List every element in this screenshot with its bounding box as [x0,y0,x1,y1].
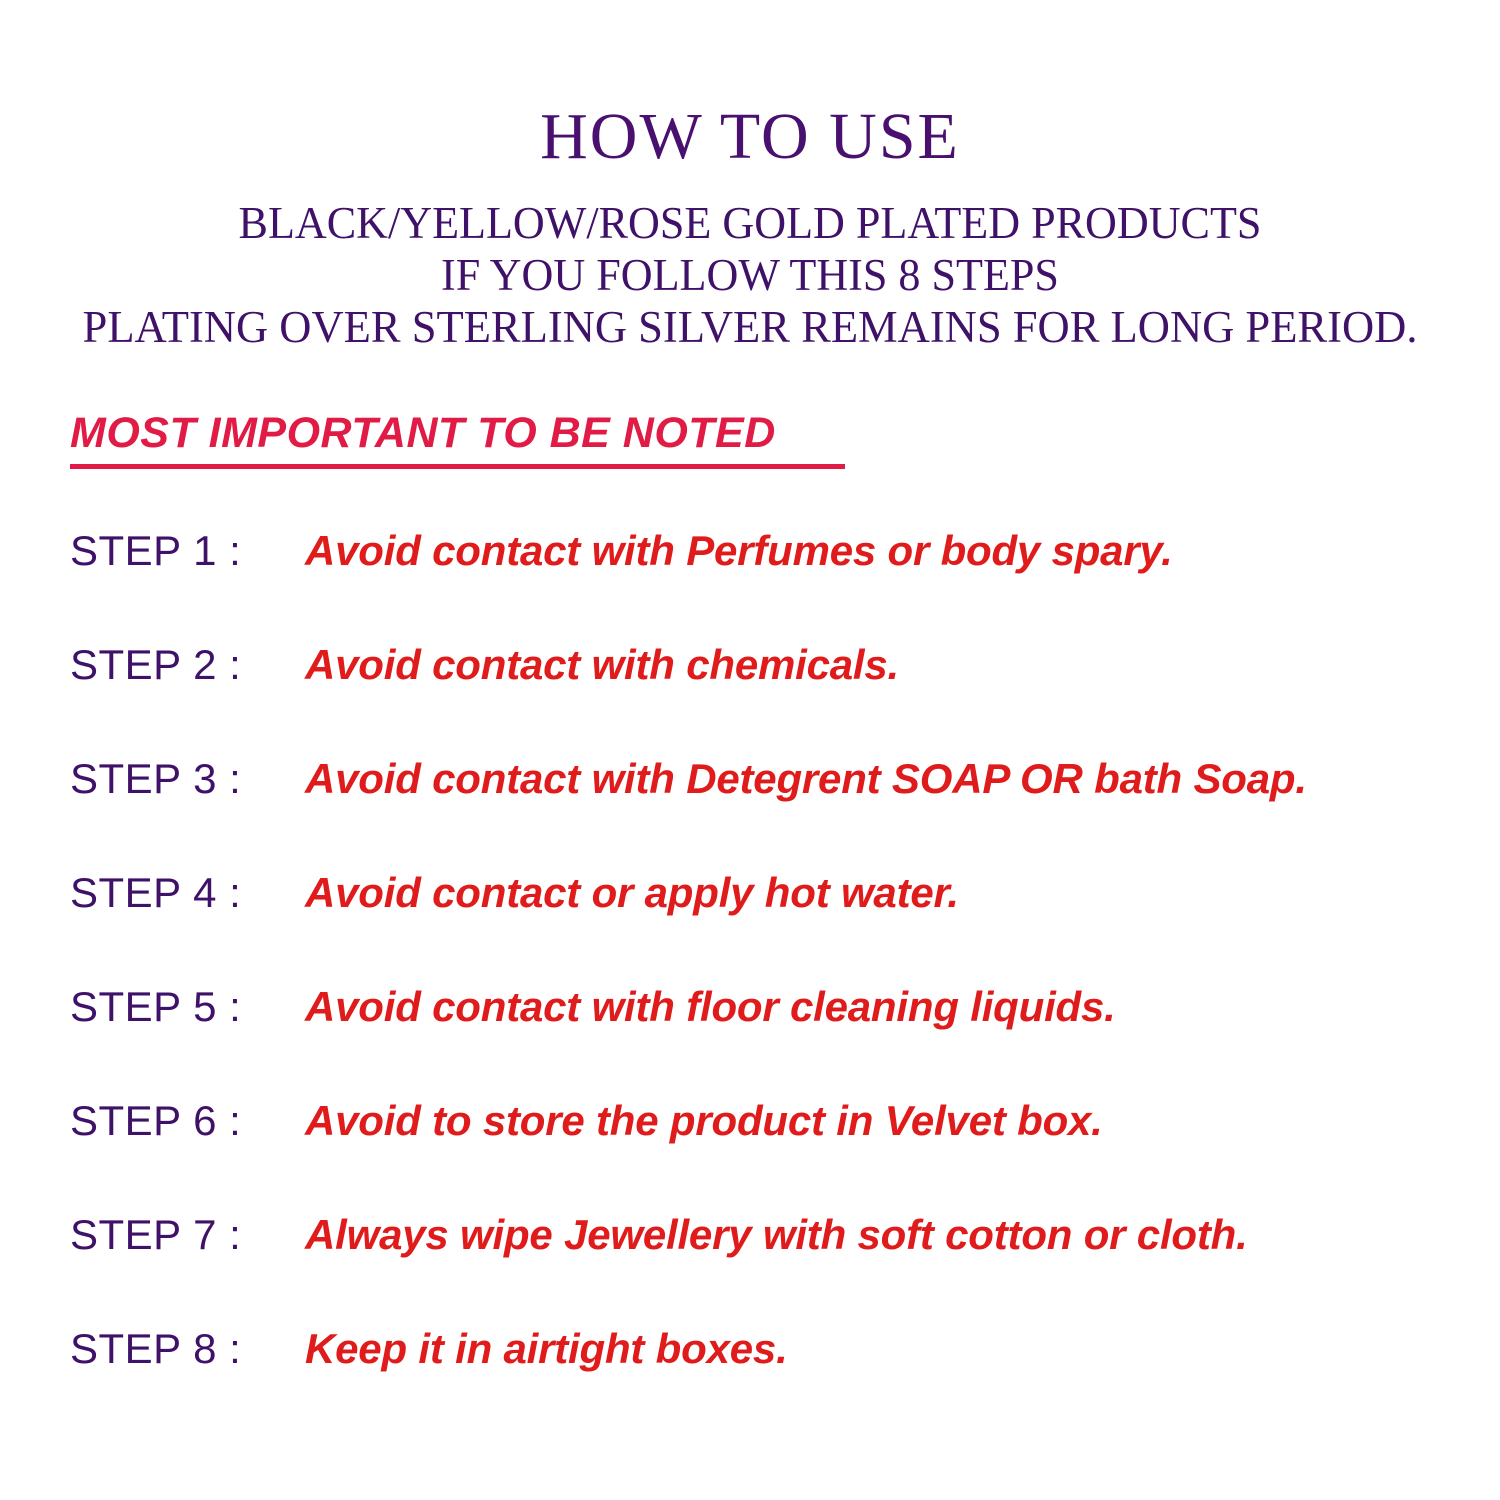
step-description: Avoid contact with Detegrent SOAP OR bat… [305,755,1307,803]
step-description: Avoid to store the product in Velvet box… [305,1097,1103,1145]
step-description: Avoid contact or apply hot water. [305,869,959,917]
header-block: HOW TO USE BLACK/YELLOW/ROSE GOLD PLATED… [0,0,1500,353]
subtitle-line-1: BLACK/YELLOW/ROSE GOLD PLATED PRODUCTS [15,198,1485,250]
step-row: STEP 8 : Keep it in airtight boxes. [70,1325,1490,1439]
step-label: STEP 5 : [70,983,305,1031]
step-row: STEP 4 : Avoid contact or apply hot wate… [70,869,1490,983]
step-description: Always wipe Jewellery with soft cotton o… [305,1211,1248,1259]
step-row: STEP 3 : Avoid contact with Detegrent SO… [70,755,1490,869]
step-row: STEP 2 : Avoid contact with chemicals. [70,641,1490,755]
step-row: STEP 5 : Avoid contact with floor cleani… [70,983,1490,1097]
step-label: STEP 8 : [70,1325,305,1373]
step-row: STEP 6 : Avoid to store the product in V… [70,1097,1490,1211]
notice-heading-text: MOST IMPORTANT TO BE NOTED [70,410,776,457]
step-description: Avoid contact with Perfumes or body spar… [305,527,1173,575]
step-row: STEP 7 : Always wipe Jewellery with soft… [70,1211,1490,1325]
step-label: STEP 3 : [70,755,305,803]
step-description: Keep it in airtight boxes. [305,1325,788,1373]
subtitle-line-3: PLATING OVER STERLING SILVER REMAINS FOR… [8,302,1493,354]
step-description: Avoid contact with floor cleaning liquid… [305,983,1116,1031]
step-label: STEP 1 : [70,527,305,575]
subtitle-block: BLACK/YELLOW/ROSE GOLD PLATED PRODUCTS I… [0,198,1500,353]
notice-underline [70,464,845,469]
step-label: STEP 6 : [70,1097,305,1145]
how-to-use-page: HOW TO USE BLACK/YELLOW/ROSE GOLD PLATED… [0,0,1500,1500]
step-label: STEP 7 : [70,1211,305,1259]
step-label: STEP 2 : [70,641,305,689]
step-description: Avoid contact with chemicals. [305,641,899,689]
step-label: STEP 4 : [70,869,305,917]
step-row: STEP 1 : Avoid contact with Perfumes or … [70,527,1490,641]
notice-heading: MOST IMPORTANT TO BE NOTED [70,410,845,469]
subtitle-line-2: IF YOU FOLLOW THIS 8 STEPS [15,250,1485,302]
steps-list: STEP 1 : Avoid contact with Perfumes or … [70,527,1490,1439]
page-title: HOW TO USE [0,0,1500,170]
